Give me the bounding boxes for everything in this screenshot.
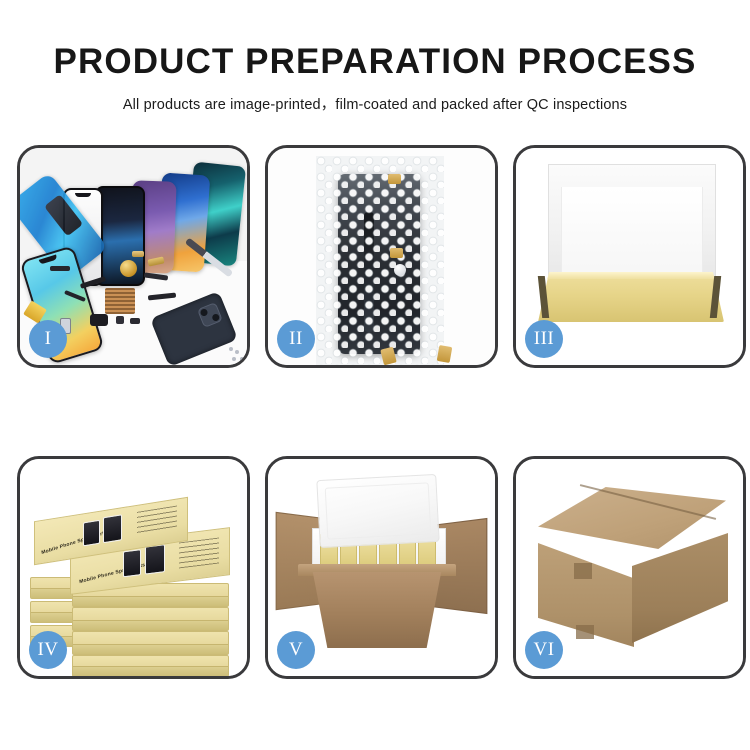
kraft-box-edge: [538, 272, 724, 279]
stacked-box: [72, 607, 229, 631]
stacked-box: [72, 655, 229, 676]
coil-part: [120, 260, 137, 277]
box-screen-image: [103, 514, 122, 543]
page-title: PRODUCT PREPARATION PROCESS: [0, 0, 750, 82]
kraft-box-tray: [538, 272, 724, 322]
flex-cable-part: [50, 266, 70, 271]
box-spec-lines: [137, 506, 177, 534]
copper-grid-part: [105, 288, 135, 314]
button-part: [116, 316, 124, 324]
box-screen-image: [83, 520, 100, 547]
tape-piece: [437, 345, 453, 363]
step-badge-5: V: [277, 631, 315, 669]
gold-connector-part: [132, 251, 144, 257]
bubble-wrap-bag: [316, 156, 444, 365]
step-badge-2: II: [277, 320, 315, 358]
screws-part: [229, 347, 233, 351]
step-panel-3[interactable]: III: [513, 145, 746, 368]
carton-tape: [574, 563, 592, 579]
step-badge-6: VI: [525, 631, 563, 669]
white-dot-part: [394, 264, 406, 276]
step-badge-3: III: [525, 320, 563, 358]
box-screen-image: [145, 544, 165, 574]
step-panel-1[interactable]: I: [17, 145, 250, 368]
step-badge-4: IV: [29, 631, 67, 669]
stacked-box: [72, 631, 229, 655]
speaker-part: [90, 314, 108, 326]
tape-piece: [388, 174, 401, 184]
step-panel-6[interactable]: VI: [513, 456, 746, 679]
step-panel-2[interactable]: II: [265, 145, 498, 368]
step-panel-5[interactable]: V: [265, 456, 498, 679]
bubble-texture: [316, 156, 444, 365]
step-badge-1: I: [29, 320, 67, 358]
page-header: PRODUCT PREPARATION PROCESS All products…: [0, 0, 750, 114]
tape-piece: [390, 248, 403, 258]
carton-tape: [576, 625, 594, 639]
box-spec-lines: [179, 538, 219, 569]
button-part: [130, 318, 140, 324]
page-subtitle: All products are image-printed，film-coat…: [0, 82, 750, 114]
foam-box-lid: [316, 474, 439, 548]
process-steps-grid: I II: [17, 145, 745, 679]
step-panel-4[interactable]: Mobile Phone Spare Parts Mobile Phone Sp…: [17, 456, 250, 679]
box-white-lid: [548, 164, 716, 280]
box-screen-image: [123, 549, 141, 577]
carton-front: [304, 572, 450, 648]
